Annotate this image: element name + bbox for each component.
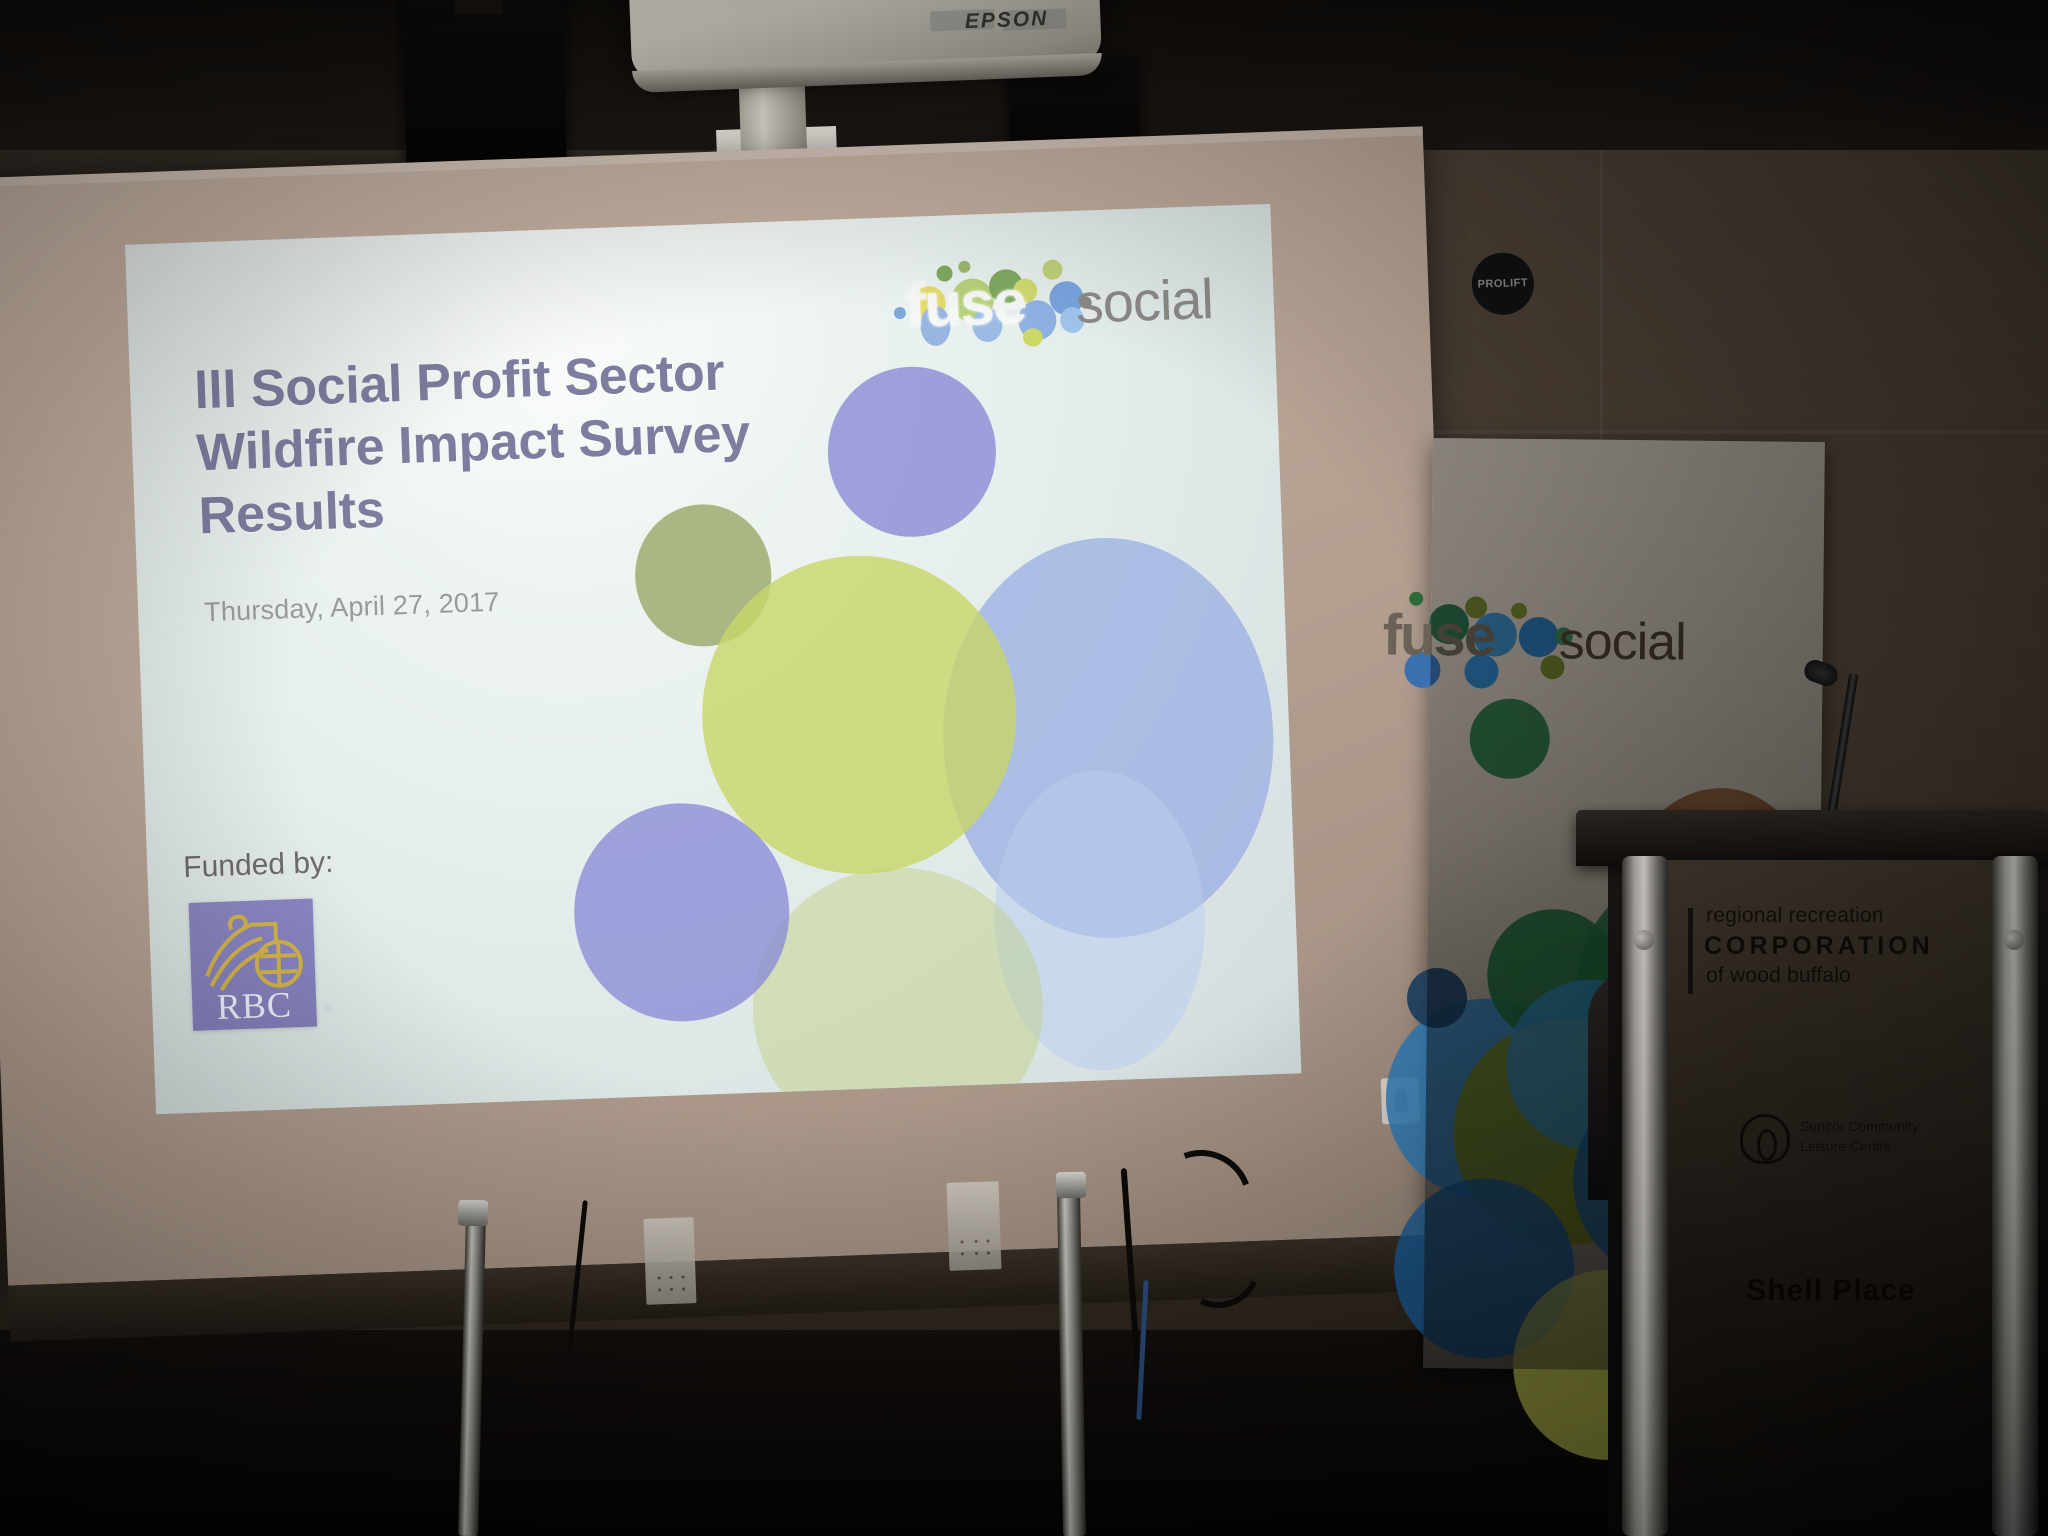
speaker-mount <box>455 0 503 14</box>
logo-dot <box>894 307 906 319</box>
podium-rail-right <box>1992 856 2038 1536</box>
wall-plate <box>644 1217 697 1305</box>
screen-frame: fuse social lll Social Profit Sector Wil… <box>0 126 1462 1285</box>
rbc-registered-mark: ® <box>323 1002 332 1016</box>
fuse-wordmark: fuse <box>904 267 1026 342</box>
pole-cap <box>458 1200 489 1227</box>
rbc-wordmark: RBC <box>192 982 317 1028</box>
podium-shadow-overlay <box>1664 860 1998 1536</box>
rbc-logo: RBC ® <box>189 899 317 1031</box>
podium-rail-left <box>1622 856 1668 1536</box>
fuse-social-logo: fuse social <box>892 239 1247 356</box>
epson-brand-label: EPSON <box>964 7 1048 34</box>
rail-screw <box>1634 930 1654 950</box>
logo-dot <box>1042 259 1063 280</box>
podium-sign-panel: regional recreation CORPORATION of wood … <box>1664 860 1998 1536</box>
wall-plate <box>946 1181 1001 1271</box>
funded-by-label: Funded by: <box>183 846 334 885</box>
prolift-badge-label: PROLIFT <box>1477 277 1528 291</box>
pole-cap <box>1056 1172 1086 1199</box>
projected-slide: fuse social lll Social Profit Sector Wil… <box>125 204 1301 1114</box>
rail-screw <box>2004 930 2024 950</box>
projection-screen-assembly: fuse social lll Social Profit Sector Wil… <box>0 126 1462 1292</box>
slide-title: lll Social Profit Sector Wildfire Impact… <box>193 338 839 548</box>
epson-projector: EPSON <box>628 0 1102 81</box>
wall-seam-vertical <box>1600 150 1603 450</box>
slide-date: Thursday, April 27, 2017 <box>204 587 500 629</box>
social-wordmark: social <box>1075 266 1214 336</box>
presentation-photo-scene: PROLIFT EPSON <box>0 0 2048 1536</box>
